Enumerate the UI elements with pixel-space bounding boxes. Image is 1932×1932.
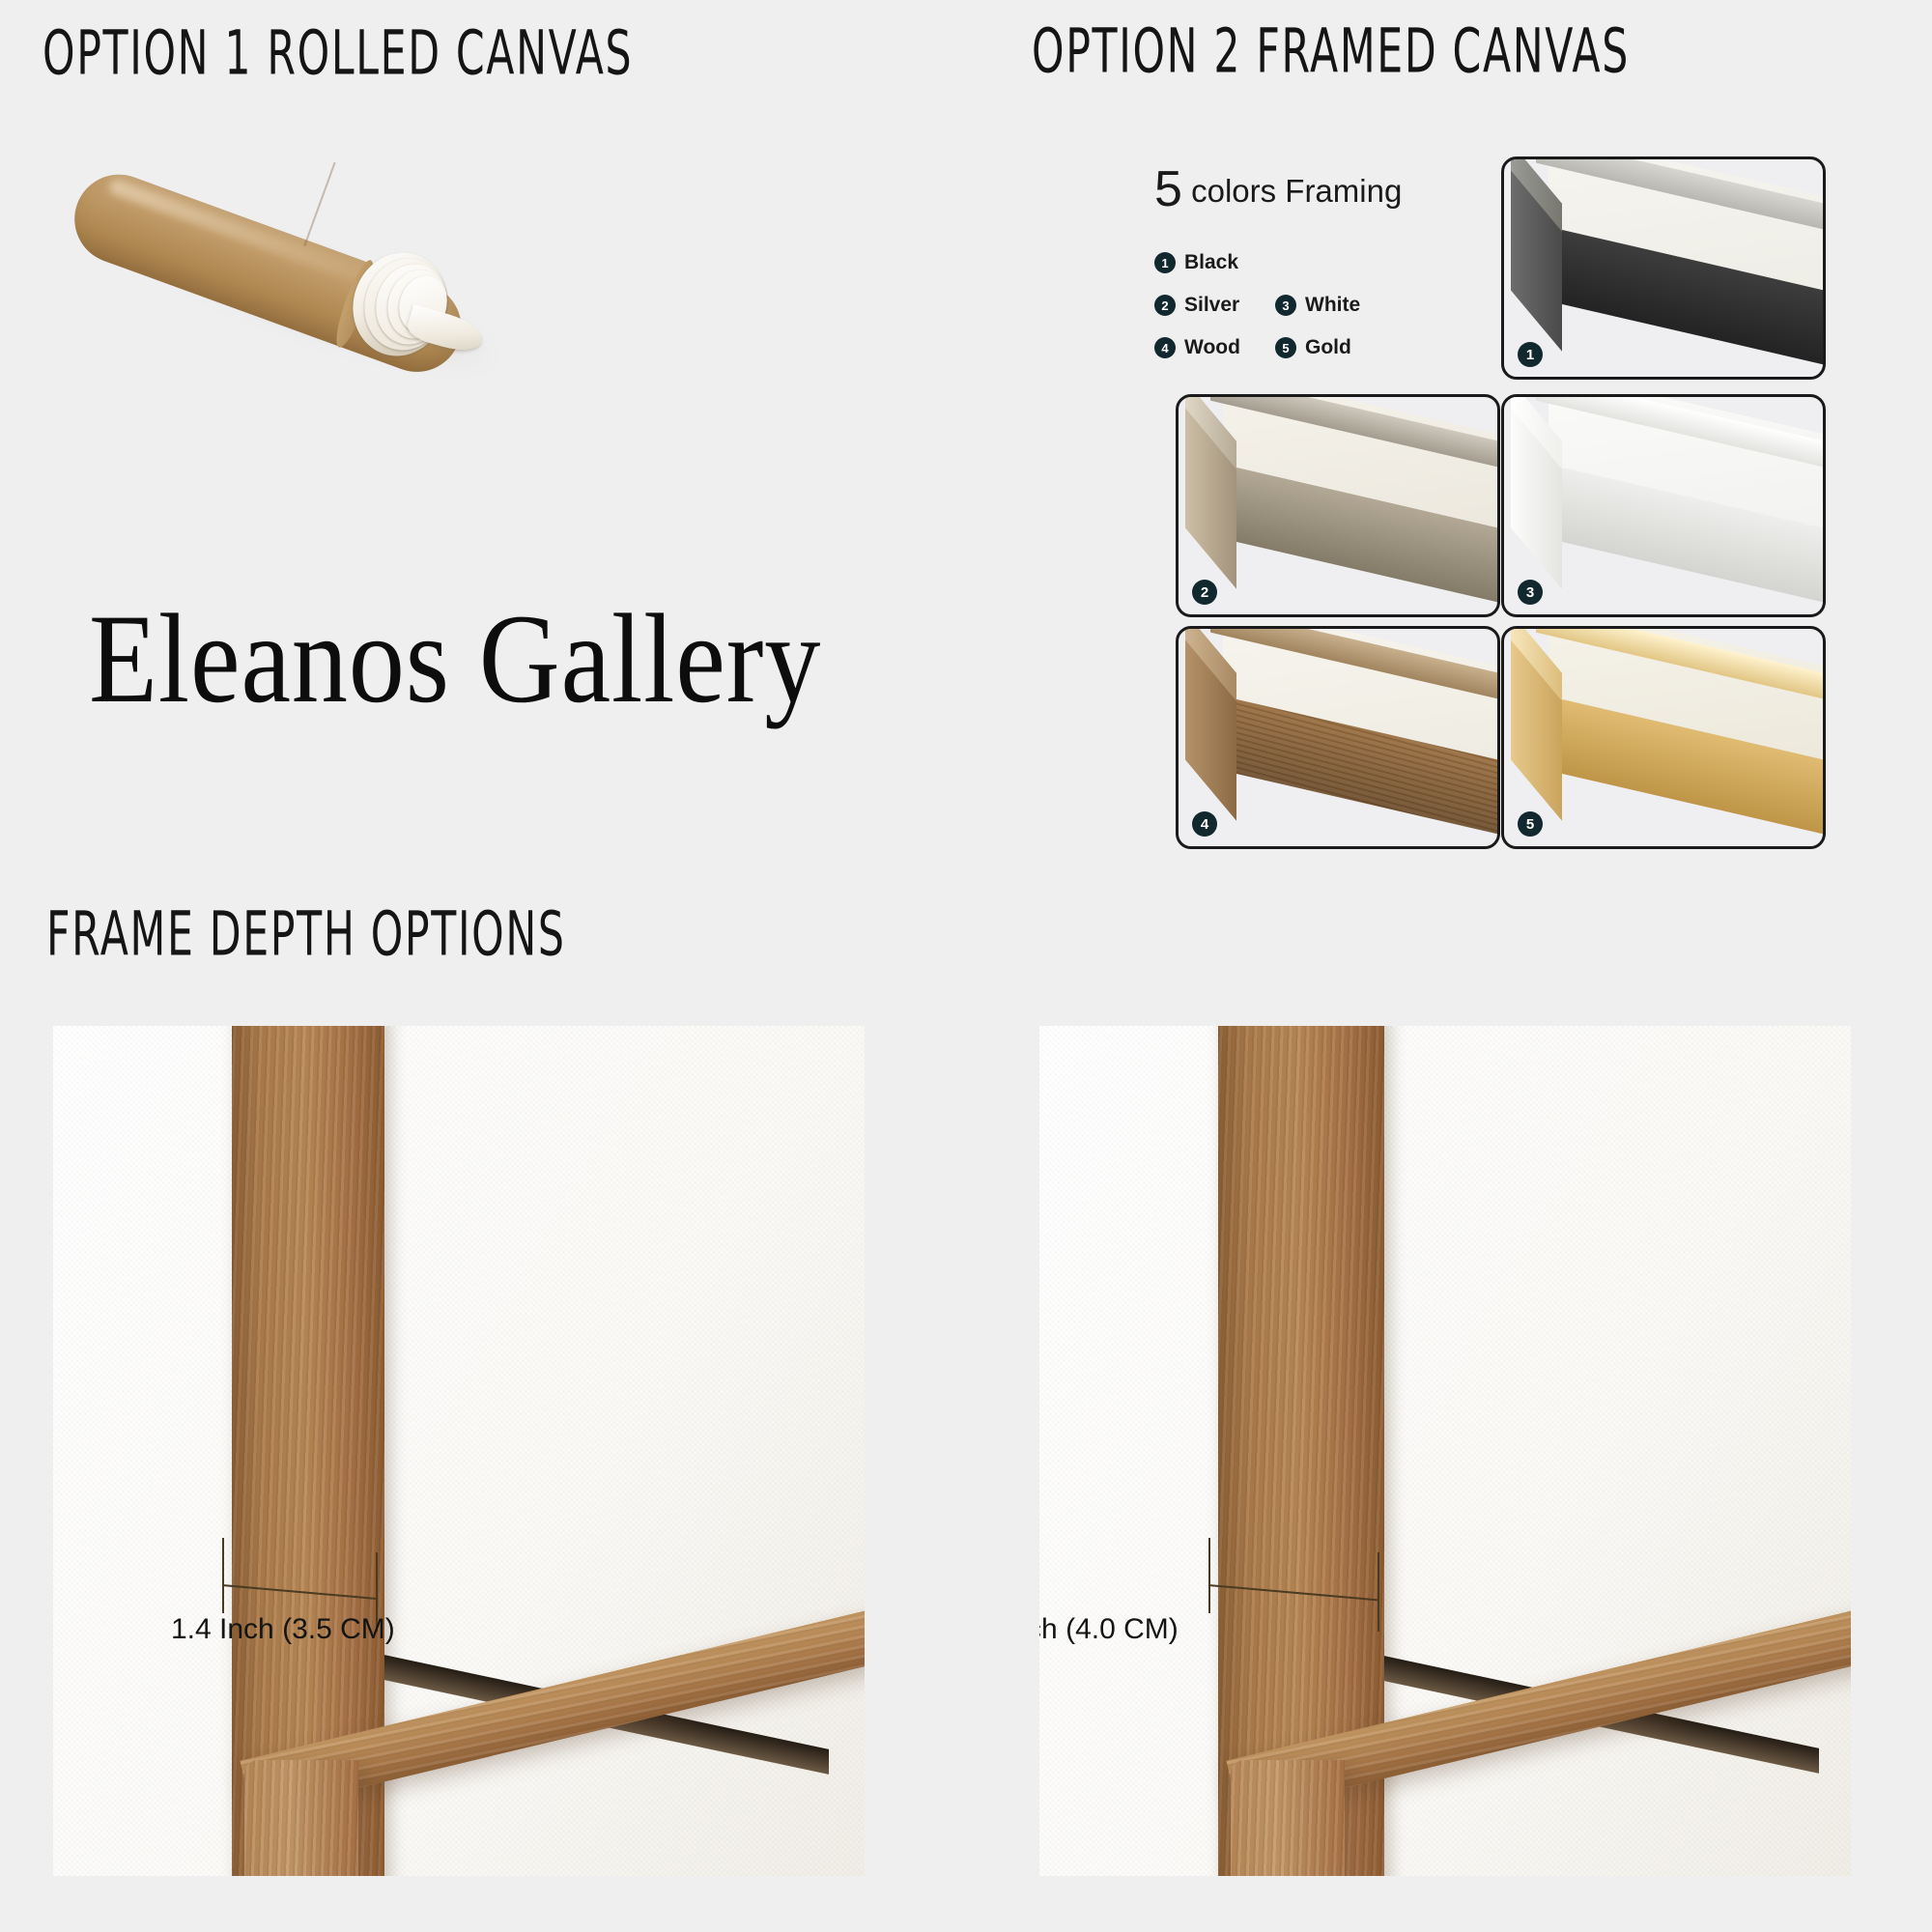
number-badge-icon: 3	[1275, 295, 1296, 316]
dimension-tick-left	[1208, 1538, 1210, 1613]
legend-item-black[interactable]: 1 Black	[1154, 251, 1275, 274]
frame-sample-tile-black[interactable]: 1	[1501, 156, 1826, 380]
tube-seam	[303, 162, 335, 246]
number-badge-icon: 2	[1192, 580, 1217, 605]
legend-item-white[interactable]: 3 White	[1275, 294, 1396, 317]
legend-item-label: Wood	[1184, 336, 1240, 359]
legend-item-label: Gold	[1305, 336, 1351, 359]
depth-dimension-label: 1.6 Inch (4.0 CM)	[1039, 1613, 1179, 1646]
frame-corner-artwork-wood	[1179, 629, 1497, 846]
frame-corner-block	[244, 1760, 358, 1876]
brand-wordmark: Eleanos Gallery	[89, 584, 821, 732]
legend-title-text: colors Framing	[1191, 173, 1402, 209]
option1-heading: OPTION 1 ROLLED CANVAS	[43, 18, 633, 89]
number-badge-icon: 5	[1518, 811, 1543, 837]
frame-depth-heading: FRAME DEPTH OPTIONS	[46, 899, 566, 970]
depth-photo-left: 1.4 Inch (3.5 CM) 0.2 Inch (0.6 CM)	[53, 1026, 865, 1876]
legend-row: 1 Black	[1154, 251, 1473, 274]
infographic-canvas: OPTION 1 ROLLED CANVAS Eleanos Gallery O…	[0, 0, 1932, 1932]
legend-item-silver[interactable]: 2 Silver	[1154, 294, 1275, 317]
number-badge-icon: 2	[1154, 295, 1176, 316]
legend-row: 2 Silver 3 White	[1154, 294, 1473, 317]
dimension-tick-left	[222, 1538, 224, 1613]
legend-count: 5	[1154, 161, 1182, 217]
legend-item-gold[interactable]: 5 Gold	[1275, 336, 1396, 359]
framing-colors-legend: 5 colors Framing 1 Black 2 Silver 3 Whit…	[1154, 164, 1473, 379]
frame-sample-tile-wood[interactable]: 4	[1176, 626, 1500, 849]
frame-corner-artwork-white	[1504, 397, 1823, 614]
legend-title: 5 colors Framing	[1154, 164, 1473, 214]
rolled-canvas-tube-illustration	[68, 130, 570, 391]
legend-item-wood[interactable]: 4 Wood	[1154, 336, 1275, 359]
number-badge-icon: 1	[1518, 342, 1543, 367]
depth-photo-right: 1.6 Inch (4.0 CM) 0.2 Inch (0.6 CM)	[1039, 1026, 1851, 1876]
number-badge-icon: 4	[1154, 337, 1176, 358]
legend-rows: 1 Black 2 Silver 3 White 4 Wood	[1154, 251, 1473, 359]
option2-heading: OPTION 2 FRAMED CANVAS	[1032, 16, 1630, 87]
number-badge-icon: 4	[1192, 811, 1217, 837]
frame-sample-tile-gold[interactable]: 5	[1501, 626, 1826, 849]
frame-corner-artwork-black	[1504, 159, 1823, 377]
dimension-tick-right	[1378, 1552, 1379, 1632]
frame-sample-tile-silver[interactable]: 2	[1176, 394, 1500, 617]
frame-corner-artwork-gold	[1504, 629, 1823, 846]
legend-item-label: Black	[1184, 251, 1238, 274]
number-badge-icon: 3	[1518, 580, 1543, 605]
depth-dimension-label: 1.4 Inch (3.5 CM)	[171, 1613, 395, 1646]
legend-row: 4 Wood 5 Gold	[1154, 336, 1473, 359]
legend-item-label: White	[1305, 294, 1360, 317]
number-badge-icon: 1	[1154, 252, 1176, 273]
number-badge-icon: 5	[1275, 337, 1296, 358]
frame-corner-block	[1231, 1760, 1345, 1876]
legend-item-label: Silver	[1184, 294, 1239, 317]
frame-corner-artwork-silver	[1179, 397, 1497, 614]
frame-sample-tile-white[interactable]: 3	[1501, 394, 1826, 617]
